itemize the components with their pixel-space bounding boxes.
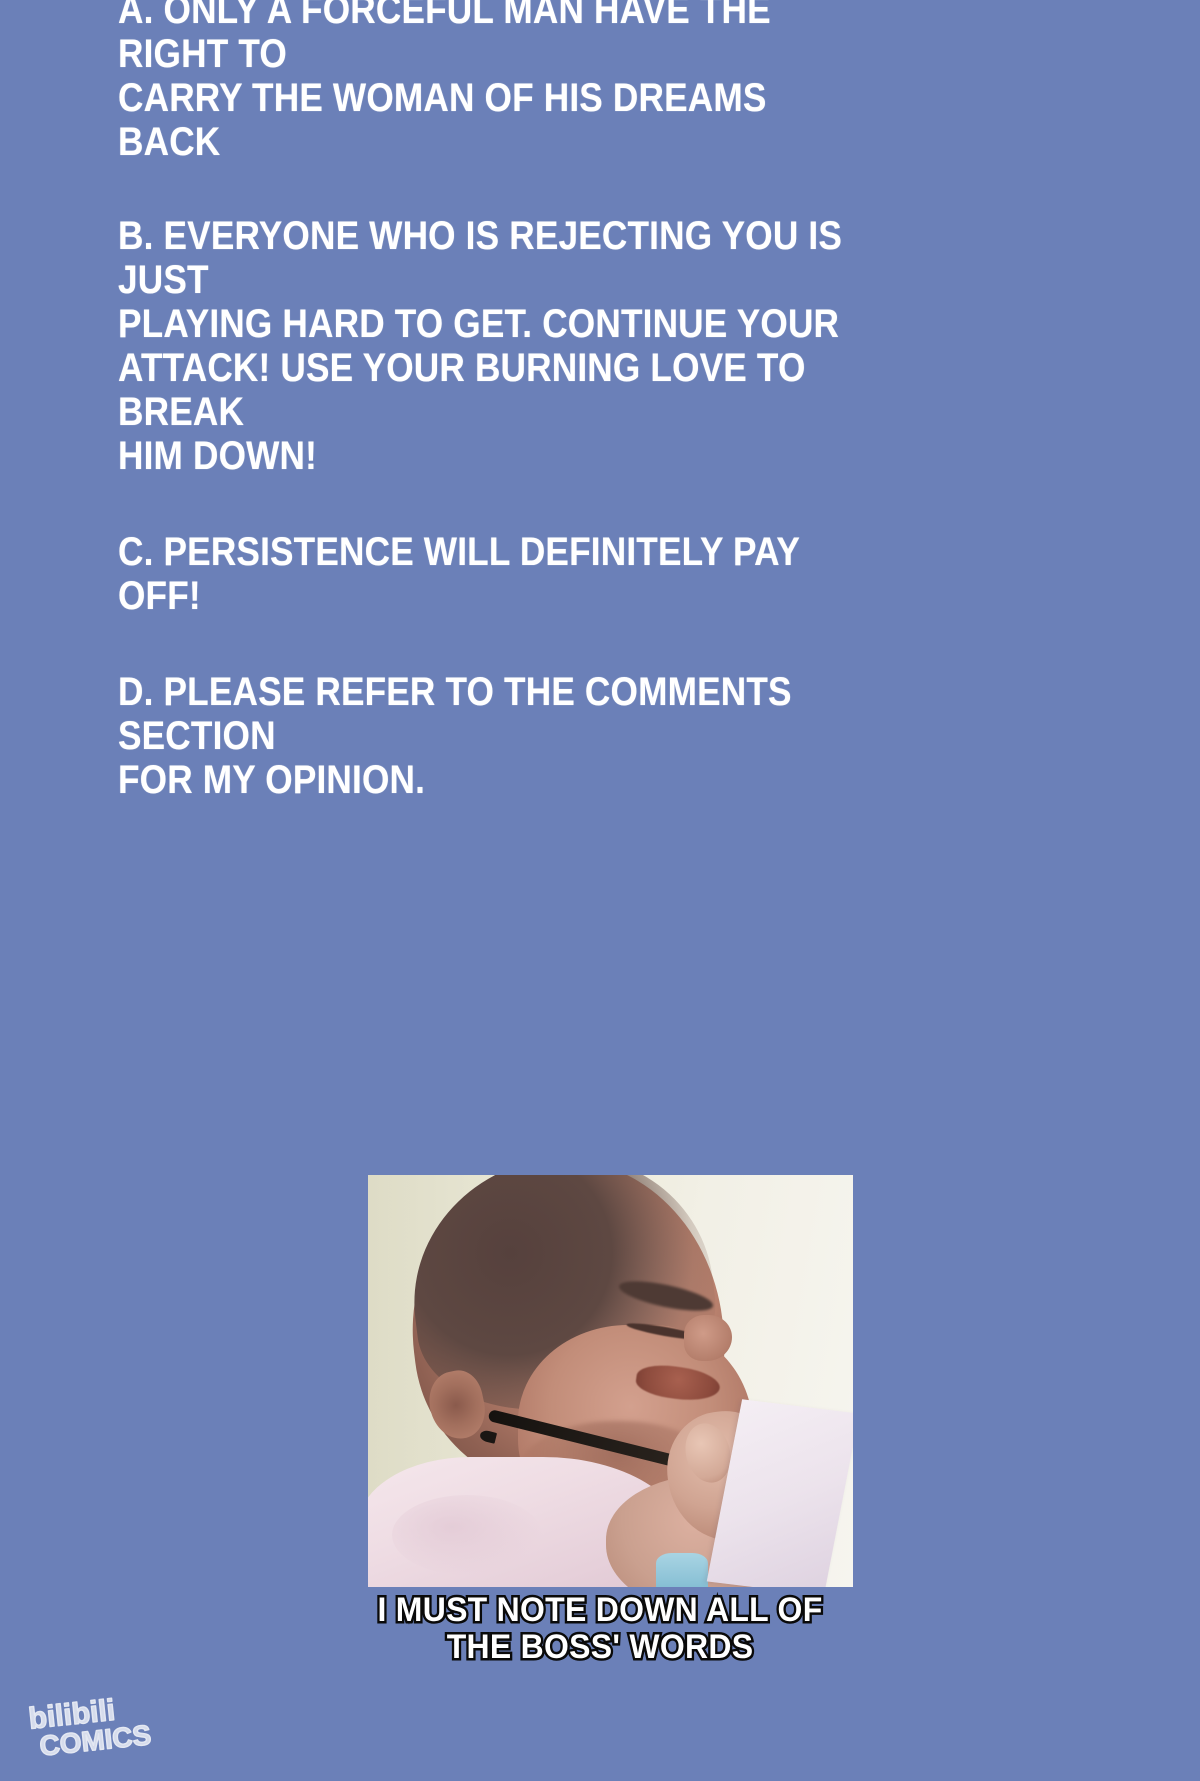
answer-option-c: C. PERSISTENCE WILL DEFINITELY PAY OFF! <box>118 530 866 618</box>
answer-option-d: D. PLEASE REFER TO THE COMMENTS SECTION … <box>118 670 866 802</box>
comic-panel: A. ONLY A FORCEFUL MAN HAVE THE RIGHT TO… <box>0 0 1200 1781</box>
meme-photo <box>368 1175 853 1587</box>
shirt-fold <box>392 1495 542 1575</box>
baby-photo-illustration <box>368 1175 853 1587</box>
meme-caption: I MUST NOTE DOWN ALL OF THE BOSS' WORDS <box>36 1592 1164 1666</box>
bilibili-comics-watermark: bilibili COMICS <box>20 1681 168 1775</box>
answer-option-a: A. ONLY A FORCEFUL MAN HAVE THE RIGHT TO… <box>118 0 866 164</box>
blue-object <box>656 1553 708 1587</box>
answer-option-b: B. EVERYONE WHO IS REJECTING YOU IS JUST… <box>118 214 866 478</box>
answer-options-list: A. ONLY A FORCEFUL MAN HAVE THE RIGHT TO… <box>118 0 968 802</box>
